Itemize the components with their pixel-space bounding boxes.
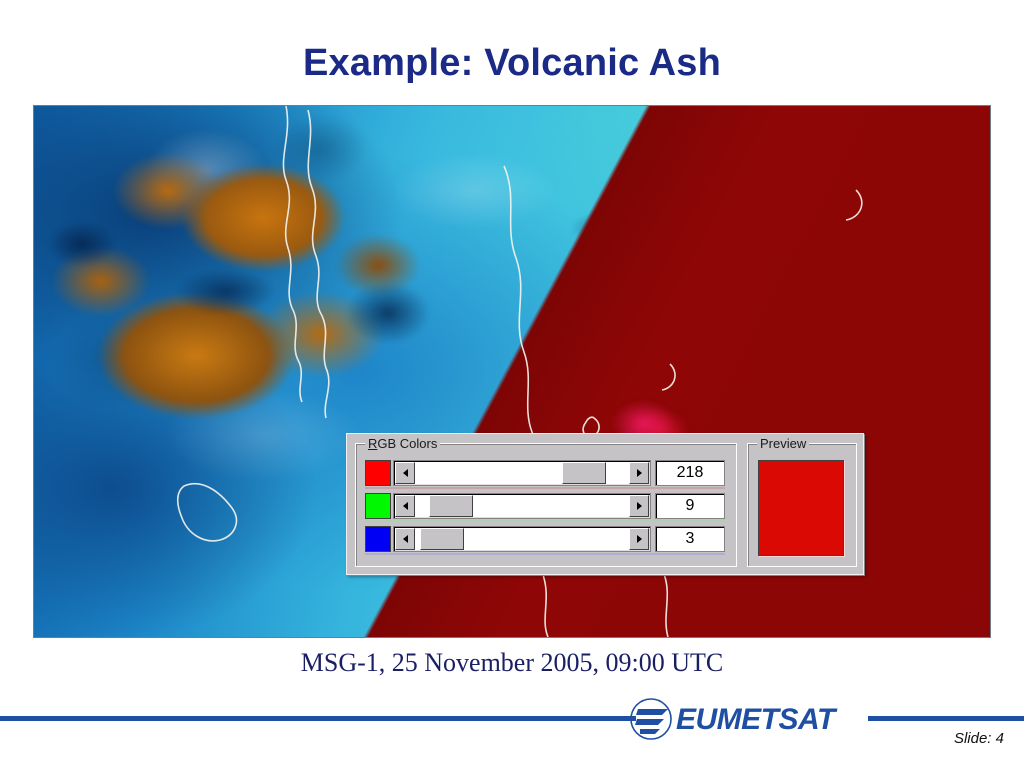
- red-value-field[interactable]: 218: [655, 460, 725, 486]
- slide-canvas: Example: Volcanic Ash: [0, 0, 1024, 768]
- rgb-colors-groupbox: RGB Colors 218 9: [355, 443, 737, 567]
- rgb-colors-dialog[interactable]: RGB Colors 218 9: [346, 433, 864, 575]
- eumetsat-globe-icon: [631, 699, 671, 739]
- green-decrement-button[interactable]: [395, 495, 415, 517]
- triangle-left-icon: [403, 469, 408, 477]
- blue-value-field[interactable]: 3: [655, 526, 725, 552]
- green-slider-track[interactable]: [393, 493, 651, 519]
- rgb-group-title-rest: GB Colors: [377, 436, 437, 451]
- green-increment-button[interactable]: [629, 495, 649, 517]
- page-title: Example: Volcanic Ash: [0, 42, 1024, 85]
- red-slider-thumb[interactable]: [562, 462, 606, 484]
- footer-rule-right: [868, 716, 1024, 721]
- red-channel-row[interactable]: 218: [365, 460, 725, 486]
- triangle-left-icon: [403, 502, 408, 510]
- eumetsat-logo: EUMETSAT: [628, 696, 878, 742]
- red-increment-button[interactable]: [629, 462, 649, 484]
- blue-row-underline: [365, 553, 725, 555]
- red-slider-track[interactable]: [393, 460, 651, 486]
- blue-slider-thumb[interactable]: [420, 528, 464, 550]
- red-color-swatch: [365, 460, 391, 486]
- preview-color-swatch: [758, 460, 844, 556]
- blue-channel-row[interactable]: 3: [365, 526, 725, 552]
- blue-color-swatch: [365, 526, 391, 552]
- green-channel-row[interactable]: 9: [365, 493, 725, 519]
- rgb-colors-group-title: RGB Colors: [365, 436, 440, 451]
- triangle-right-icon: [637, 502, 642, 510]
- green-color-swatch: [365, 493, 391, 519]
- triangle-right-icon: [637, 535, 642, 543]
- triangle-left-icon: [403, 535, 408, 543]
- red-row-underline: [365, 487, 725, 489]
- green-slider-thumb[interactable]: [429, 495, 473, 517]
- image-caption: MSG-1, 25 November 2005, 09:00 UTC: [0, 648, 1024, 678]
- rgb-group-accel-letter: R: [368, 436, 377, 451]
- blue-decrement-button[interactable]: [395, 528, 415, 550]
- green-row-underline: [365, 520, 725, 522]
- blue-slider-track[interactable]: [393, 526, 651, 552]
- red-decrement-button[interactable]: [395, 462, 415, 484]
- blue-increment-button[interactable]: [629, 528, 649, 550]
- footer-rule-left: [0, 716, 636, 721]
- preview-groupbox: Preview: [747, 443, 857, 567]
- triangle-right-icon: [637, 469, 642, 477]
- green-value-field[interactable]: 9: [655, 493, 725, 519]
- slide-number: Slide: 4: [864, 730, 1004, 747]
- preview-group-title: Preview: [757, 436, 809, 451]
- eumetsat-wordmark: EUMETSAT: [676, 703, 838, 736]
